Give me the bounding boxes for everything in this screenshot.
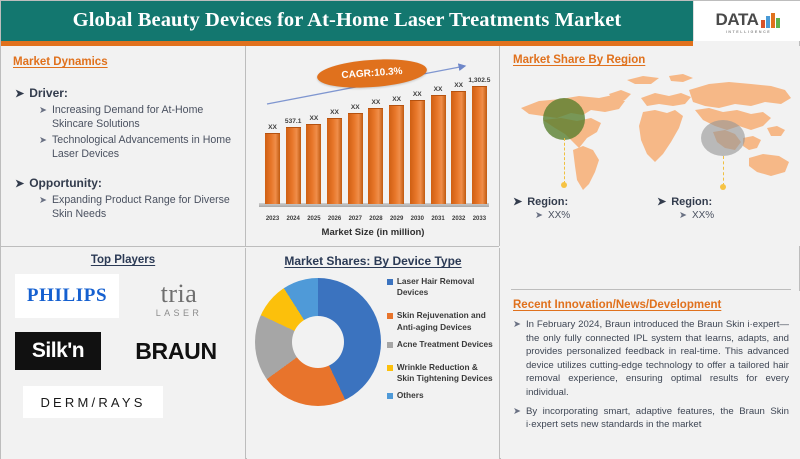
legend-swatch [387, 342, 393, 348]
opportunity-label: Opportunity: [29, 176, 102, 190]
silkn-wordmark: Silk'n [32, 339, 84, 363]
world-map [513, 68, 799, 196]
bar-value-label: XX [372, 99, 381, 106]
region-value-left: XX% [548, 210, 570, 221]
market-dynamics-panel: Market Dynamics ➤ Driver: ➤ Increasing D… [1, 46, 245, 246]
bar-shape [265, 133, 280, 204]
philips-wordmark: PHILIPS [27, 285, 107, 307]
bar-column: XX [348, 86, 363, 204]
region-value-right-row: ➤ XX% [679, 209, 800, 223]
bar-value-label: XX [330, 109, 339, 116]
player-logo-dermrays: DERM/RAYS [23, 386, 163, 418]
donut-legend: Laser Hair Removal Devices Skin Rejuvena… [387, 276, 493, 408]
x-tick: 2032 [451, 216, 466, 222]
news-title: Recent Innovation/News/Development [513, 299, 789, 311]
player-logo-tria: tria LASER [127, 276, 231, 324]
logo-grid: PHILIPS tria LASER Silk'n BRAUN DERM/RAY… [9, 274, 237, 446]
list-item: ➤ Increasing Demand for At-Home Skincare… [39, 104, 233, 132]
arrow-icon: ➤ [15, 88, 24, 100]
arrow-icon: ➤ [39, 194, 47, 208]
bar-column: XX [410, 86, 425, 204]
bar-value-label: XX [268, 124, 277, 131]
device-share-title: Market Shares: By Device Type [253, 254, 493, 268]
opportunity-list: ➤ Expanding Product Range for Diverse Sk… [39, 194, 233, 222]
divider-vertical-right-top [499, 46, 500, 246]
infographic-page: Global Beauty Devices for At-Home Laser … [0, 0, 800, 459]
bar-shape [348, 113, 363, 204]
legend-label: Others [397, 390, 424, 401]
bar-shape [451, 91, 466, 204]
driver-list: ➤ Increasing Demand for At-Home Skincare… [39, 104, 233, 162]
bar-shape [286, 127, 301, 204]
bar-column: XX [389, 86, 404, 204]
list-item: ➤ Expanding Product Range for Diverse Sk… [39, 194, 233, 222]
list-item: ➤ Technological Advancements in Home Las… [39, 134, 233, 162]
driver-label: Driver: [29, 86, 68, 100]
arrow-icon: ➤ [39, 134, 47, 148]
x-tick: 2028 [368, 216, 383, 222]
region-label-right: Region: [671, 196, 712, 208]
region-stats: ➤ Region: ➤ XX% ➤ Region: ➤ XX% [513, 196, 800, 223]
bar-shape [410, 100, 425, 204]
logo-row: DATA [715, 11, 779, 28]
driver-item-text: Technological Advancements in Home Laser… [52, 134, 233, 162]
arrow-icon: ➤ [535, 209, 543, 223]
legend-swatch [387, 393, 393, 399]
bar-value-label: XX [454, 82, 463, 89]
news-text: In February 2024, Braun introduced the B… [526, 318, 789, 400]
bar-shape [306, 124, 321, 204]
x-axis-labels: 2023 2024 2025 2026 2027 2028 2029 2030 … [265, 216, 487, 222]
market-dynamics-title: Market Dynamics [13, 56, 233, 68]
bar-series: XX 537.1 XX XX XX [265, 86, 487, 204]
page-header: Global Beauty Devices for At-Home Laser … [1, 1, 800, 41]
arrow-icon: ➤ [657, 196, 666, 208]
market-size-chart-panel: CAGR:10.3% XX 537.1 XX XX [247, 46, 499, 246]
bar-column: XX [451, 86, 466, 204]
bar-value-label: XX [413, 91, 422, 98]
bar-column: XX [431, 86, 446, 204]
x-tick: 2029 [389, 216, 404, 222]
dermrays-wordmark: DERM/RAYS [40, 395, 145, 410]
bar-shape [327, 118, 342, 204]
pin-dot-right [720, 184, 726, 190]
divider-horizontal-left [1, 246, 499, 247]
recent-innovation-panel: Recent Innovation/News/Development ➤ In … [501, 291, 800, 459]
legend-label: Acne Treatment Devices [397, 339, 493, 350]
player-logo-philips: PHILIPS [15, 274, 119, 318]
pin-line-left [564, 138, 565, 184]
legend-label: Skin Rejuvenation and Anti-aging Devices [397, 310, 493, 332]
legend-label: Wrinkle Reduction & Skin Tightening Devi… [397, 362, 493, 384]
legend-item: Laser Hair Removal Devices [387, 276, 493, 298]
bar-value-label: XX [309, 115, 318, 122]
legend-swatch [387, 365, 393, 371]
bar-column: 537.1 [286, 86, 301, 204]
bar-value-label: XX [434, 86, 443, 93]
arrow-icon: ➤ [39, 104, 47, 118]
bar-column: XX [368, 86, 383, 204]
player-logo-braun: BRAUN [121, 332, 231, 370]
news-list-item: ➤ In February 2024, Braun introduced the… [513, 318, 789, 400]
legend-swatch [387, 279, 393, 285]
market-share-region-panel: Market Share By Region [501, 46, 800, 246]
x-tick: 2024 [286, 216, 301, 222]
braun-wordmark: BRAUN [135, 338, 217, 365]
divider-vertical-left-top [245, 46, 246, 246]
bar-value-label: XX [392, 96, 401, 103]
divider-vertical-left-bottom [245, 248, 246, 459]
top-players-title: Top Players [9, 254, 237, 266]
x-tick: 2025 [306, 216, 321, 222]
driver-item-text: Increasing Demand for At-Home Skincare S… [52, 104, 233, 132]
region-value-right: XX% [692, 210, 714, 221]
arrow-icon: ➤ [679, 209, 687, 223]
legend-item: Wrinkle Reduction & Skin Tightening Devi… [387, 362, 493, 384]
x-tick: 2026 [327, 216, 342, 222]
bar-value-label: 1,302.5 [468, 77, 490, 84]
x-tick: 2027 [348, 216, 363, 222]
pin-line-right [723, 156, 724, 186]
legend-swatch [387, 313, 393, 319]
market-shares-device-panel: Market Shares: By Device Type Laser Hair… [247, 248, 499, 459]
top-players-panel: Top Players PHILIPS tria LASER Silk'n BR… [1, 248, 245, 459]
region-label-left-row: ➤ Region: [513, 196, 657, 208]
bar-shape [368, 108, 383, 204]
region-label-right-row: ➤ Region: [657, 196, 800, 208]
donut-chart: Laser Hair Removal Devices Skin Rejuvena… [253, 272, 493, 408]
bar-value-label: XX [351, 104, 360, 111]
page-title: Global Beauty Devices for At-Home Laser … [73, 9, 622, 33]
dynamics-group-head-driver: ➤ Driver: [15, 86, 233, 100]
tria-sub: LASER [156, 308, 203, 318]
bar-column: XX [306, 86, 321, 204]
opportunity-item-text: Expanding Product Range for Diverse Skin… [52, 194, 233, 222]
pin-dot-left [561, 182, 567, 188]
tria-wordmark: tria [161, 282, 198, 307]
region-value-left-row: ➤ XX% [535, 209, 657, 223]
bar-chart: CAGR:10.3% XX 537.1 XX XX [255, 54, 491, 240]
region-stat-right: ➤ Region: ➤ XX% [657, 196, 800, 223]
bar-shape [431, 95, 446, 204]
legend-item: Others [387, 390, 493, 401]
divider-vertical-right-bottom [499, 248, 500, 459]
bar-shape [389, 105, 404, 204]
legend-item: Acne Treatment Devices [387, 339, 493, 350]
arrow-icon: ➤ [513, 196, 522, 208]
logo-wordmark: DATA [715, 11, 758, 28]
x-tick: 2033 [472, 216, 487, 222]
header-band: Global Beauty Devices for At-Home Laser … [1, 1, 693, 41]
region-label-left: Region: [527, 196, 568, 208]
region-bubble-north-america [543, 98, 585, 140]
news-list-item: ➤ By incorporating smart, adaptive featu… [513, 405, 789, 432]
region-stat-left: ➤ Region: ➤ XX% [513, 196, 657, 223]
bar-value-label: 537.1 [285, 118, 302, 125]
dynamics-group-head-opportunity: ➤ Opportunity: [15, 176, 233, 190]
arrow-icon: ➤ [513, 318, 521, 332]
legend-label: Laser Hair Removal Devices [397, 276, 493, 298]
brand-logo: DATA INTELLIGENCE [693, 1, 800, 41]
arrow-icon: ➤ [513, 405, 521, 419]
logo-tagline: INTELLIGENCE [726, 30, 772, 34]
donut-ring [255, 278, 381, 406]
player-logo-silkn: Silk'n [15, 332, 101, 370]
bar-column: 1,302.5 [472, 86, 487, 204]
x-tick: 2030 [410, 216, 425, 222]
x-tick: 2031 [431, 216, 446, 222]
region-bubble-asia-pacific [701, 120, 745, 156]
x-tick: 2023 [265, 216, 280, 222]
news-text: By incorporating smart, adaptive feature… [526, 405, 789, 432]
region-title: Market Share By Region [513, 54, 791, 66]
bar-shape [472, 86, 487, 204]
divider-horizontal-right [511, 289, 791, 290]
bar-column: XX [327, 86, 342, 204]
arrow-icon: ➤ [15, 178, 24, 190]
bar-column: XX [265, 86, 280, 204]
logo-bars-icon [761, 13, 780, 28]
legend-item: Skin Rejuvenation and Anti-aging Devices [387, 310, 493, 332]
